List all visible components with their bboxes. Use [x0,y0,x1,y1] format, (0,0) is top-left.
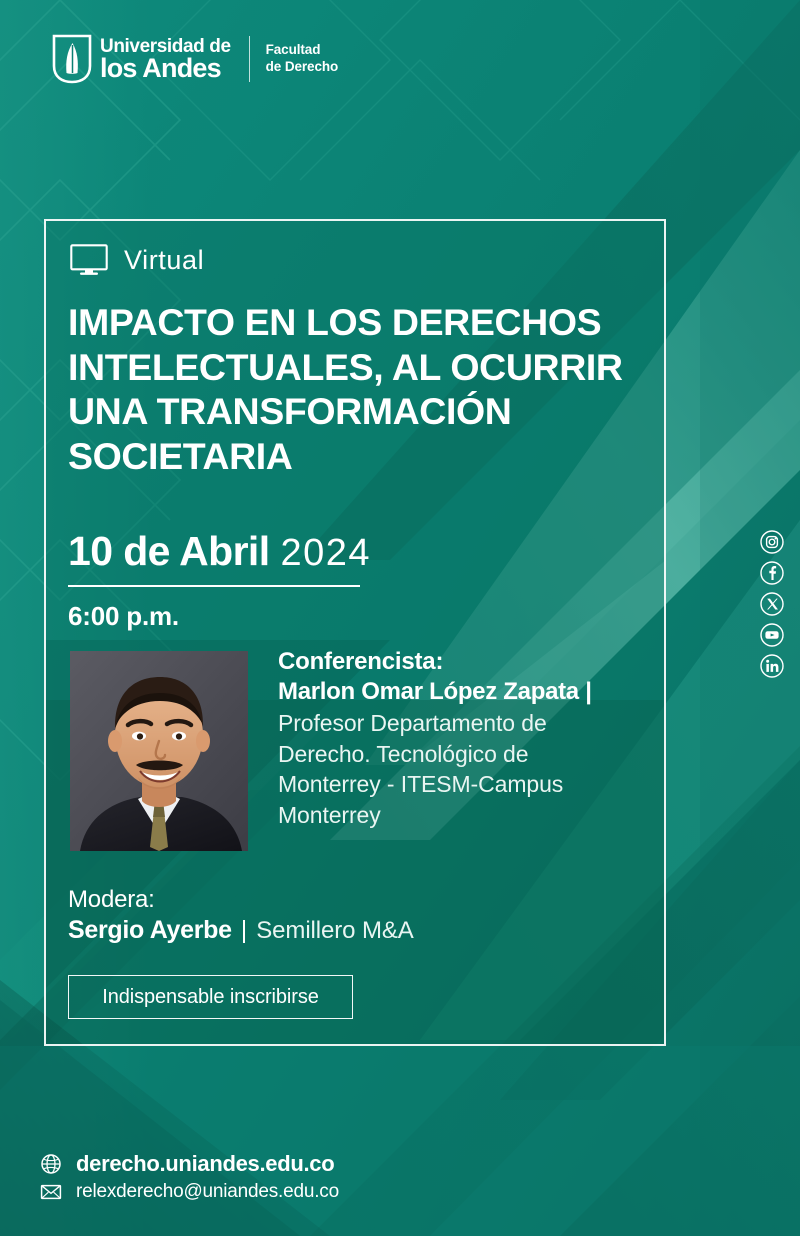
globe-icon [40,1153,62,1175]
speaker-role-label: Conferencista: [278,647,660,677]
modality-row: Virtual [70,244,204,276]
website-row[interactable]: derecho.uniandes.edu.co [40,1151,339,1177]
logo-wordmark: Universidad de los Andes [100,37,231,82]
monitor-icon [70,244,108,276]
moderator-role-label: Modera: [68,884,414,915]
date-main: 10 de Abril [68,528,270,575]
x-twitter-icon[interactable] [760,592,784,616]
contact-footer: derecho.uniandes.edu.co relexderecho@uni… [40,1151,339,1203]
speaker-name: Marlon Omar López Zapata | [278,677,660,707]
email-text: relexderecho@uniandes.edu.co [76,1181,339,1203]
speaker-affiliation-line-2: Derecho. Tecnológico de [278,739,660,769]
speaker-affiliation-line-3: Monterrey - ITESM-Campus [278,769,660,799]
moderator-details: Modera: Sergio Ayerbe | Semillero M&A [68,884,414,945]
linkedin-icon[interactable] [760,654,784,678]
faculty-line-1: Facultad [266,42,339,59]
title-line-3: UNA TRANSFORMACIÓN [68,389,658,434]
speaker-details: Conferencista: Marlon Omar López Zapata … [278,647,660,830]
date-year: 2024 [281,532,372,575]
moderator-name: Sergio Ayerbe [68,916,232,945]
envelope-icon [40,1181,62,1203]
uniandes-shield-icon [52,33,92,85]
speaker-affiliation-line-4: Monterrey [278,800,660,830]
modality-label: Virtual [124,245,204,276]
event-time: 6:00 p.m. [68,601,179,632]
event-date: 10 de Abril 2024 [68,528,371,575]
speaker-photo [70,651,248,851]
logo-divider [249,36,250,82]
email-row[interactable]: relexderecho@uniandes.edu.co [40,1181,339,1203]
uniandes-logo: Universidad de los Andes Facultad de Der… [52,33,338,85]
registration-label: Indispensable inscribirse [102,986,319,1009]
social-links [760,530,784,678]
speaker-affiliation-line-1: Profesor Departamento de [278,708,660,738]
website-text: derecho.uniandes.edu.co [76,1151,334,1177]
speaker-affiliation: Profesor Departamento de Derecho. Tecnol… [278,708,660,829]
instagram-icon[interactable] [760,530,784,554]
youtube-icon[interactable] [760,623,784,647]
faculty-line-2: de Derecho [266,59,339,76]
logo-line-2: los Andes [100,55,231,82]
event-title: IMPACTO EN LOS DERECHOS INTELECTUALES, A… [68,300,658,479]
title-line-1: IMPACTO EN LOS DERECHOS [68,300,658,345]
registration-button[interactable]: Indispensable inscribirse [68,975,353,1019]
moderator-separator: | [241,916,248,945]
title-line-4: SOCIETARIA [68,434,658,479]
moderator-group: Semillero M&A [256,917,413,945]
date-rule [68,585,360,587]
title-line-2: INTELECTUALES, AL OCURRIR [68,345,658,390]
facebook-icon[interactable] [760,561,784,585]
speaker-portrait-illustration [70,651,248,851]
faculty-label: Facultad de Derecho [266,42,339,76]
